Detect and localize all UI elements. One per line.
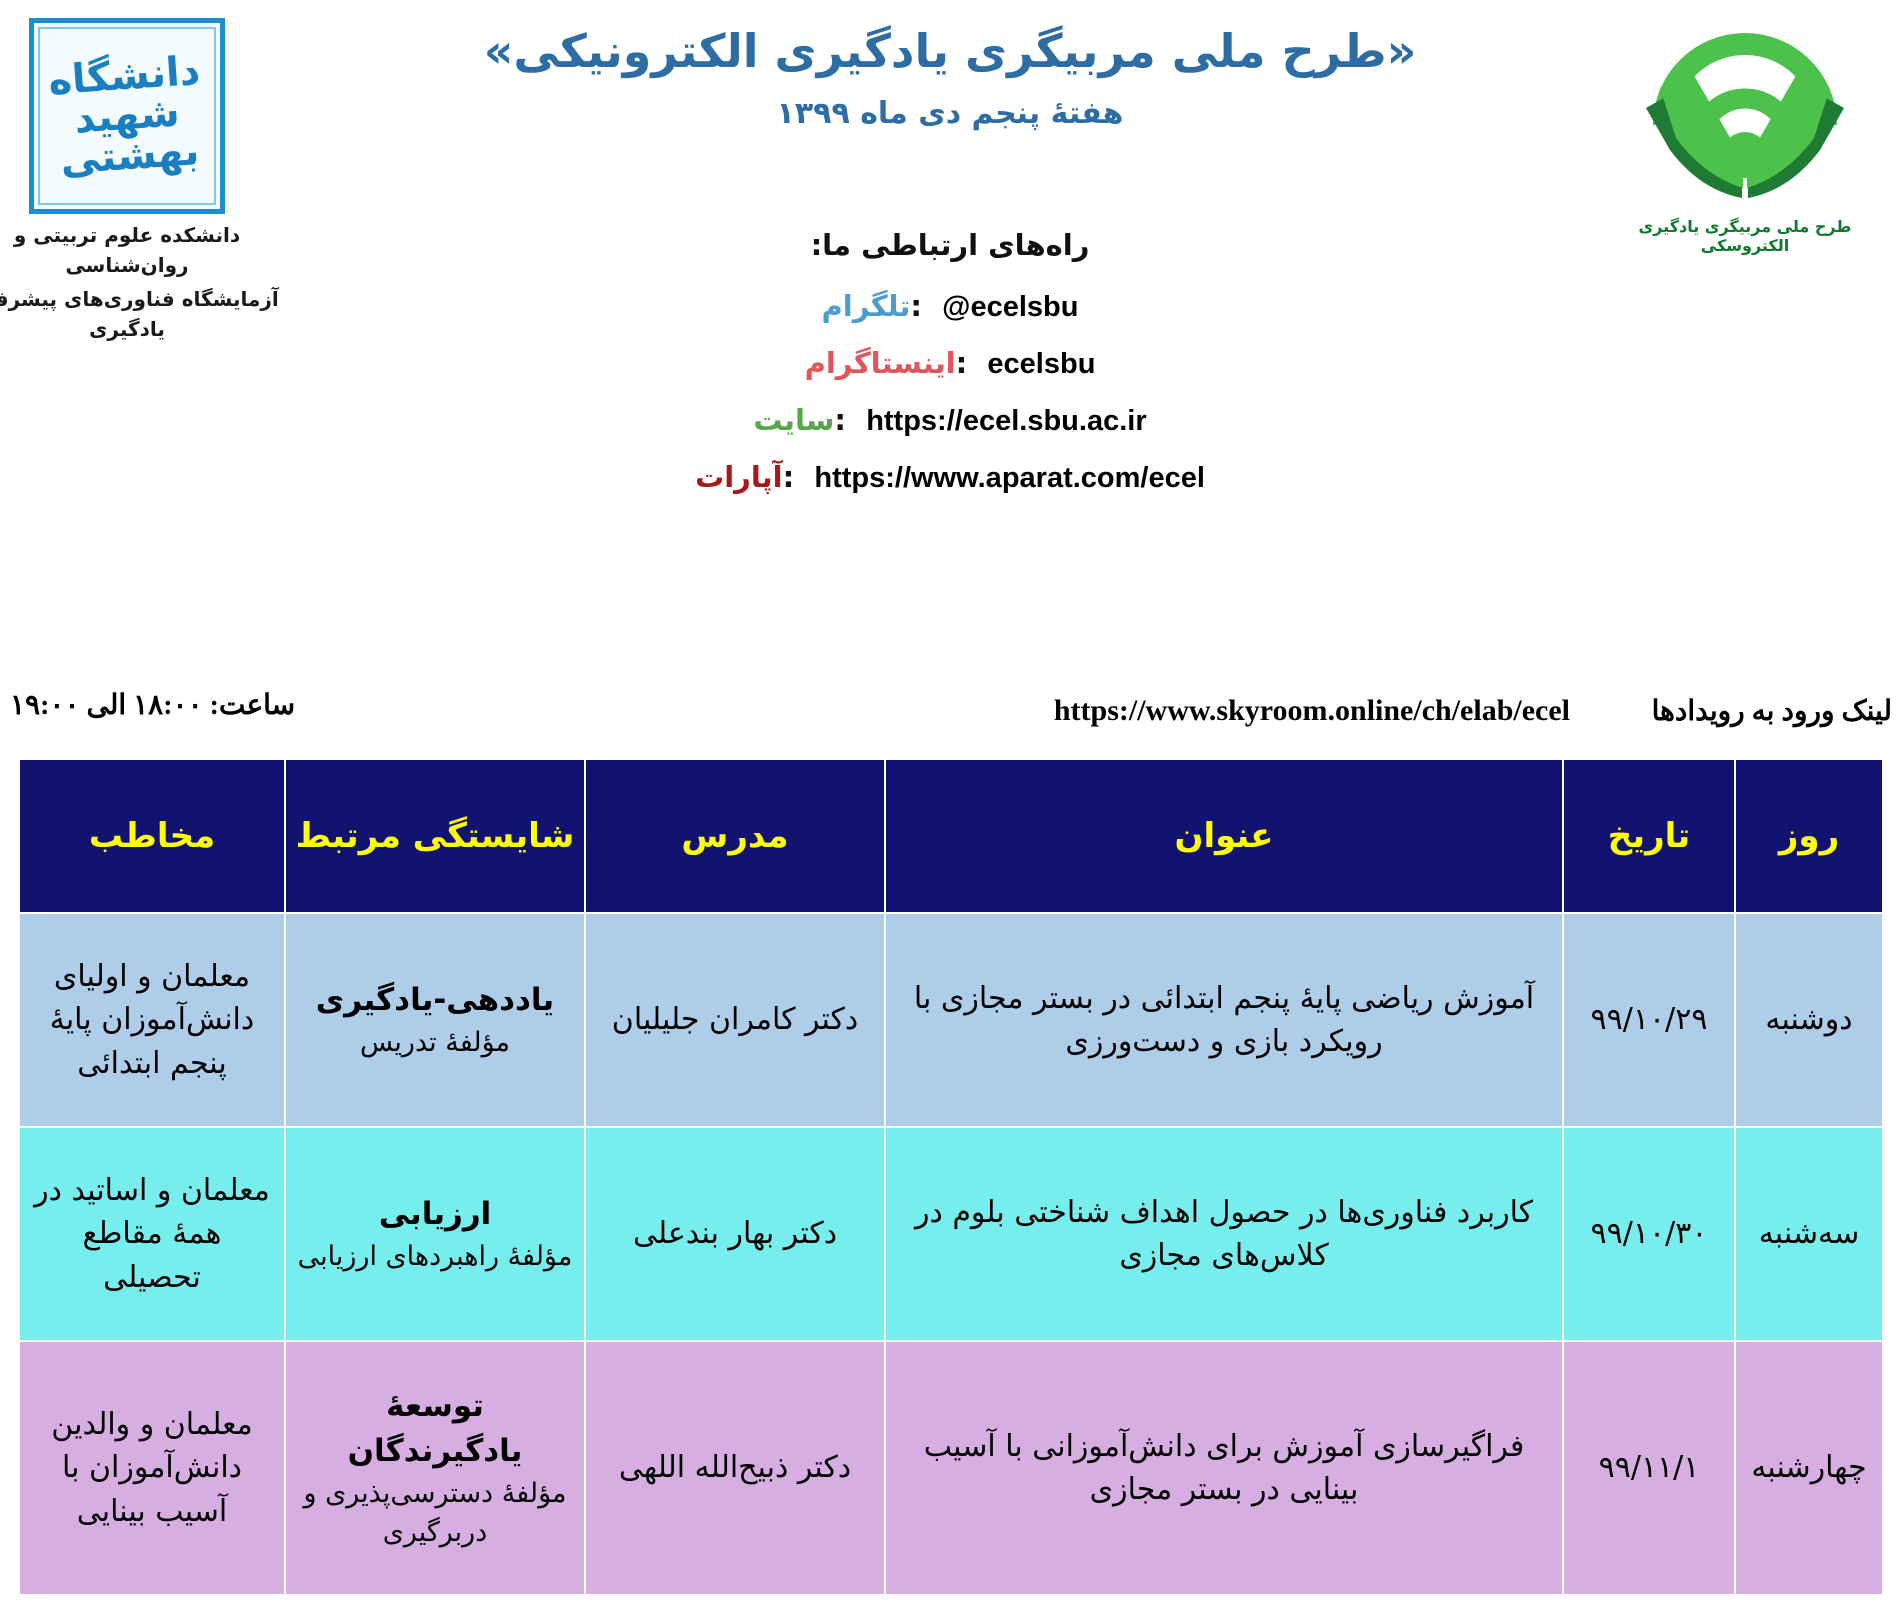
contact-section: راه‌های ارتباطی ما: @ecelsbu :تلگرام ece…: [0, 228, 1900, 520]
contact-value-aparat[interactable]: https://www.aparat.com/ecel: [814, 464, 1205, 493]
ecel-wifi-hands-logo-icon: [1630, 10, 1860, 215]
schedule-table: روز تاریخ عنوان مدرس شایستگی مرتبط مخاطب…: [18, 758, 1884, 1596]
contact-row-telegram: @ecelsbu :تلگرام: [0, 292, 1900, 322]
column-header-teacher: مدرس: [585, 759, 885, 913]
sbu-logo-text: دانشگاه شهید بهشتی: [38, 50, 216, 182]
table-row: سه‌شنبه ۹۹/۱۰/۳۰ کاربرد فناوری‌ها در حصو…: [19, 1127, 1883, 1341]
cell-day: دوشنبه: [1735, 913, 1883, 1127]
cell-date: ۹۹/۱۰/۲۹: [1563, 913, 1735, 1127]
cell-teacher: دکتر کامران جلیلیان: [585, 913, 885, 1127]
event-time-label: ساعت: ۱۸:۰۰ الی ۱۹:۰۰: [10, 690, 295, 722]
contact-heading: راه‌های ارتباطی ما:: [0, 228, 1900, 262]
contact-value-instagram[interactable]: ecelsbu: [987, 350, 1095, 379]
column-header-day: روز: [1735, 759, 1883, 913]
cell-competency: یاددهی-یادگیری مؤلفهٔ تدریس: [285, 913, 585, 1127]
cell-title: کاربرد فناوری‌ها در حصول اهداف شناختی بل…: [885, 1127, 1563, 1341]
table-row: چهارشنبه ۹۹/۱۱/۱ فراگیرسازی آموزش برای د…: [19, 1341, 1883, 1595]
ecel-branding-block: طرح ملی مربیگری یادگیری الکتروسکی: [1595, 6, 1895, 255]
contact-label-aparat: آپارات: [695, 460, 783, 494]
competency-sub: مؤلفهٔ تدریس: [296, 1023, 574, 1062]
contact-label-telegram: تلگرام: [822, 289, 911, 323]
competency-main: توسعهٔ یادگیرندگان: [296, 1384, 574, 1474]
table-header-row: روز تاریخ عنوان مدرس شایستگی مرتبط مخاطب: [19, 759, 1883, 913]
column-header-date: تاریخ: [1563, 759, 1735, 913]
competency-main: یاددهی-یادگیری: [296, 978, 574, 1023]
contact-row-aparat: https://www.aparat.com/ecel :آپارات: [0, 463, 1900, 493]
cell-audience: معلمان و اولیای دانش‌آموزان پایهٔ پنجم ا…: [19, 913, 285, 1127]
table-row: دوشنبه ۹۹/۱۰/۲۹ آموزش ریاضی پایهٔ پنجم ا…: [19, 913, 1883, 1127]
cell-audience: معلمان و والدین دانش‌آموزان با آسیب بینا…: [19, 1341, 285, 1595]
column-header-competency: شایستگی مرتبط: [285, 759, 585, 913]
contact-label-instagram: اینستاگرام: [805, 346, 956, 380]
cell-day: چهارشنبه: [1735, 1341, 1883, 1595]
shahid-beheshti-university-logo-icon: دانشگاه شهید بهشتی: [29, 18, 225, 214]
competency-main: ارزیابی: [296, 1192, 574, 1237]
cell-audience: معلمان و اساتید در همهٔ مقاطع تحصیلی: [19, 1127, 285, 1341]
competency-sub: مؤلفهٔ راهبردهای ارزیابی: [296, 1237, 574, 1276]
cell-teacher: دکتر بهار بندعلی: [585, 1127, 885, 1341]
event-link-bar: لینک ورود به رویدادها https://www.skyroo…: [0, 690, 1900, 752]
contact-row-website: https://ecel.sbu.ac.ir :سایت: [0, 406, 1900, 436]
cell-date: ۹۹/۱۱/۱: [1563, 1341, 1735, 1595]
contact-row-instagram: ecelsbu :اینستاگرام: [0, 349, 1900, 379]
contact-value-telegram[interactable]: @ecelsbu: [942, 293, 1078, 322]
cell-competency: ارزیابی مؤلفهٔ راهبردهای ارزیابی: [285, 1127, 585, 1341]
contact-value-website[interactable]: https://ecel.sbu.ac.ir: [866, 407, 1146, 436]
cell-title: آموزش ریاضی پایهٔ پنجم ابتدائی در بستر م…: [885, 913, 1563, 1127]
event-link-url[interactable]: https://www.skyroom.online/ch/elab/ecel: [1054, 694, 1570, 728]
cell-title: فراگیرسازی آموزش برای دانش‌آموزانی با آس…: [885, 1341, 1563, 1595]
column-header-audience: مخاطب: [19, 759, 285, 913]
contact-label-website: سایت: [753, 403, 834, 437]
competency-sub: مؤلفهٔ دسترسی‌پذیری و دربرگیری: [296, 1474, 574, 1552]
cell-date: ۹۹/۱۰/۳۰: [1563, 1127, 1735, 1341]
cell-teacher: دکتر ذبیح‌الله اللهی: [585, 1341, 885, 1595]
event-link-label: لینک ورود به رویدادها: [1652, 694, 1892, 728]
cell-competency: توسعهٔ یادگیرندگان مؤلفهٔ دسترسی‌پذیری و…: [285, 1341, 585, 1595]
cell-day: سه‌شنبه: [1735, 1127, 1883, 1341]
column-header-title: عنوان: [885, 759, 1563, 913]
